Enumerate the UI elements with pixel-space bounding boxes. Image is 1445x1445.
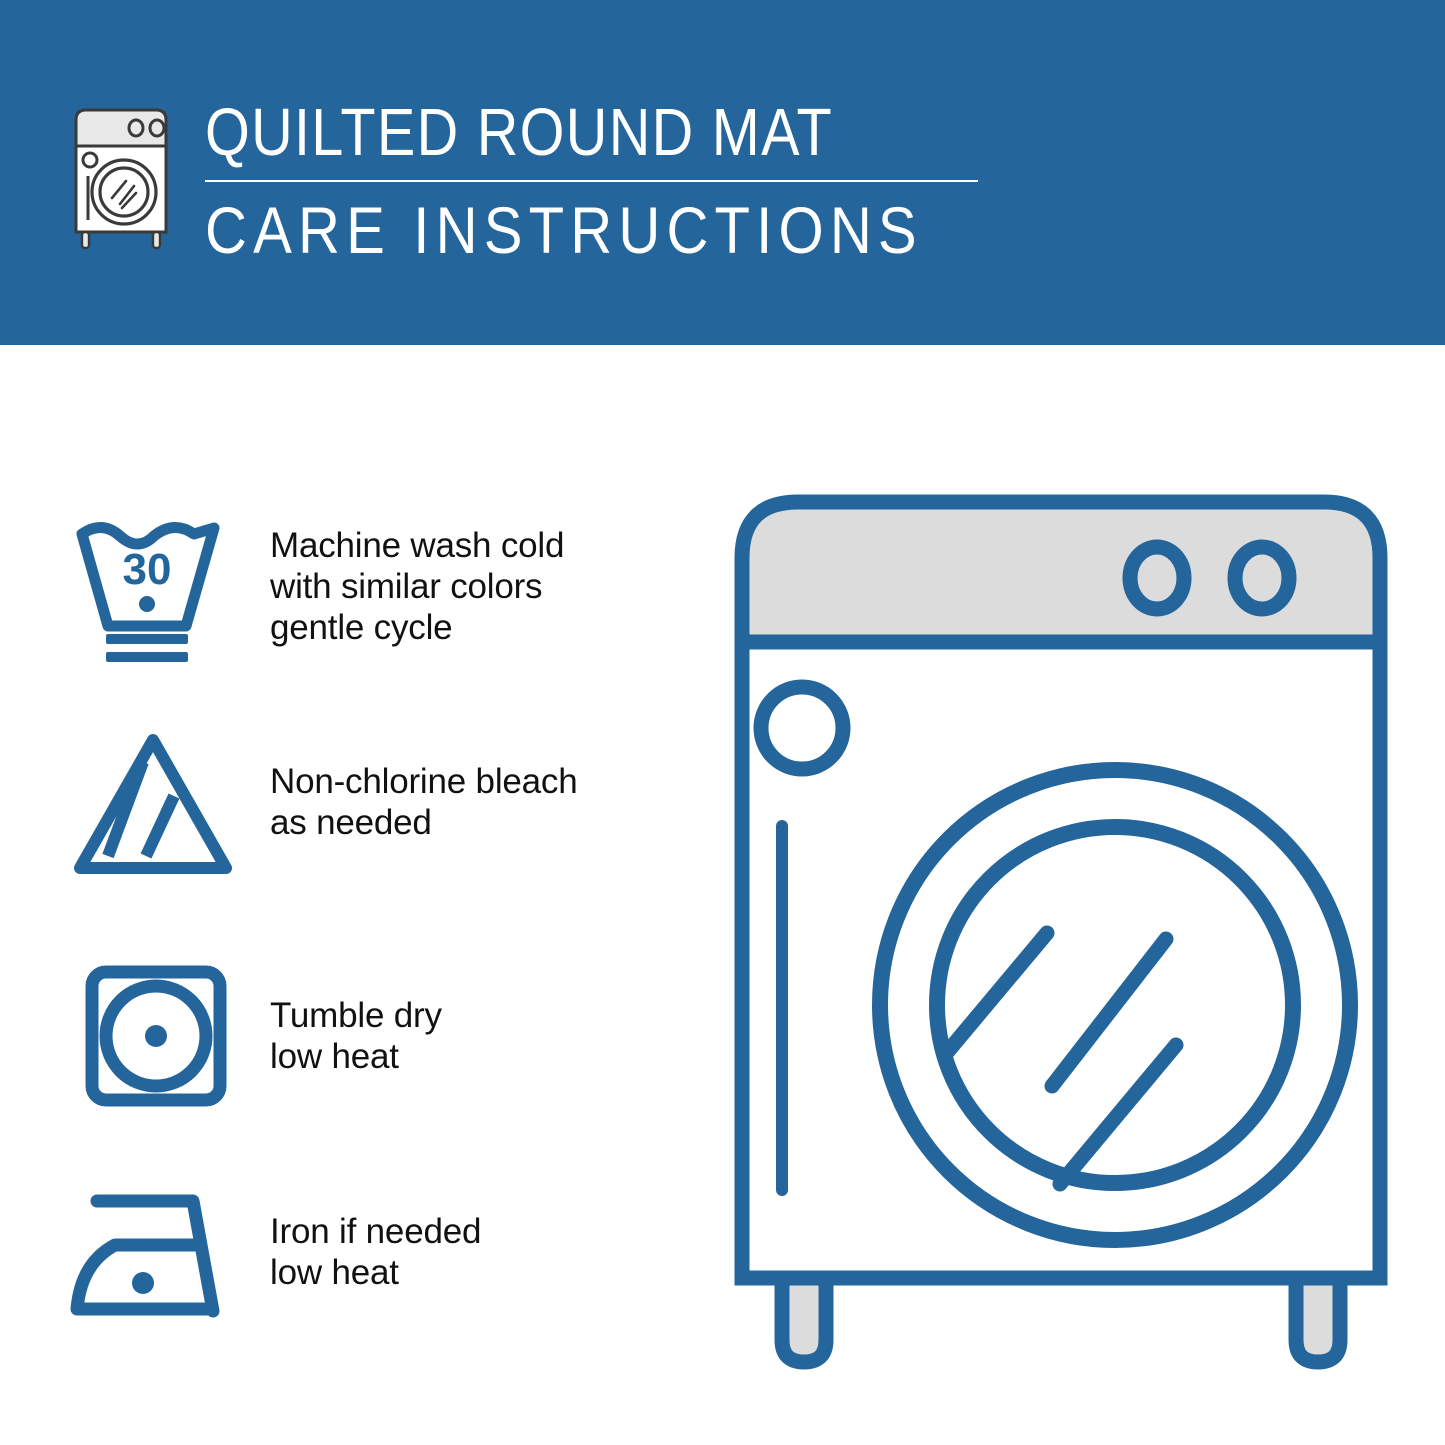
leg-left	[782, 1278, 826, 1362]
care-label-machine-wash: Machine wash cold with similar colors ge…	[270, 525, 564, 648]
page-subtitle: CARE INSTRUCTIONS	[205, 194, 909, 266]
iron-low-heat-icon	[58, 1165, 248, 1340]
non-chlorine-bleach-triangle-icon	[58, 715, 248, 890]
wash-temperature-value: 30	[123, 545, 172, 594]
title-divider	[205, 180, 978, 182]
care-row-bleach: Non-chlorine bleach as needed	[0, 702, 700, 902]
care-row-iron: Iron if needed low heat	[0, 1152, 700, 1352]
washing-machine-icon	[62, 104, 180, 254]
care-label-bleach: Non-chlorine bleach as needed	[270, 761, 578, 843]
page-title: QUILTED ROUND MAT	[205, 96, 893, 170]
care-label-tumble-dry: Tumble dry low heat	[270, 995, 442, 1077]
care-row-tumble-dry: Tumble dry low heat	[0, 936, 700, 1136]
header-text-block: QUILTED ROUND MAT CARE INSTRUCTIONS	[205, 96, 1005, 266]
care-row-machine-wash: 30 Machine wash cold with similar colors…	[0, 486, 700, 686]
care-label-iron: Iron if needed low heat	[270, 1211, 481, 1293]
leg-right	[1296, 1278, 1340, 1362]
header-band: QUILTED ROUND MAT CARE INSTRUCTIONS	[0, 0, 1445, 345]
tumble-dry-low-icon	[58, 949, 248, 1124]
wash-tub-30-icon: 30	[58, 499, 248, 674]
washing-machine-illustration	[716, 478, 1406, 1378]
care-instructions-page: QUILTED ROUND MAT CARE INSTRUCTIONS 30	[0, 0, 1445, 1445]
